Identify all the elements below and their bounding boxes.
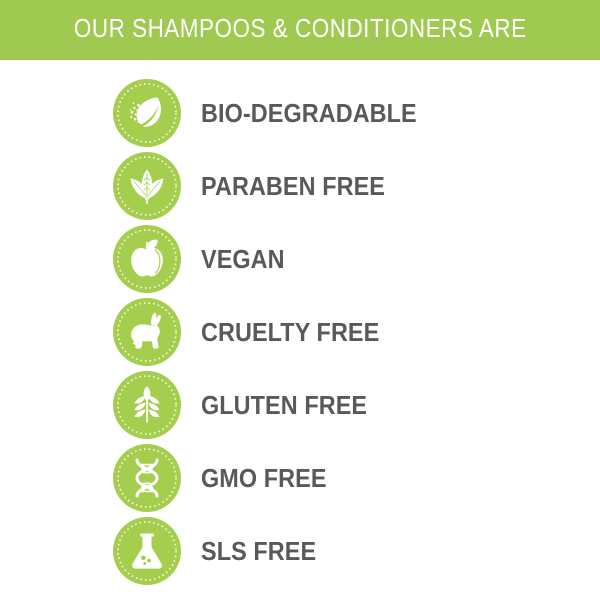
badge-cruelty-free: [113, 298, 181, 366]
claim-row-bio-degradable: BIO-DEGRADABLE: [113, 79, 573, 147]
badge-bio-degradable: [113, 79, 181, 147]
claim-row-vegan: VEGAN: [113, 225, 573, 293]
claim-label: BIO-DEGRADABLE: [201, 100, 417, 126]
claim-row-cruelty-free: CRUELTY FREE: [113, 298, 573, 366]
claim-label: CRUELTY FREE: [201, 319, 379, 345]
badge-paraben-free: [113, 152, 181, 220]
header-banner: OUR SHAMPOOS & CONDITIONERS ARE: [0, 0, 600, 60]
badge-sls-free: [113, 517, 181, 585]
infographic-root: OUR SHAMPOOS & CONDITIONERS ARE: [0, 0, 600, 600]
page-title: OUR SHAMPOOS & CONDITIONERS ARE: [74, 17, 527, 43]
claim-label: GLUTEN FREE: [201, 392, 367, 418]
claims-list: BIO-DEGRADABLE: [0, 60, 600, 600]
badge-vegan: [113, 225, 181, 293]
claim-row-sls-free: SLS FREE: [113, 517, 573, 585]
claim-row-gmo-free: GMO FREE: [113, 444, 573, 512]
claim-label: VEGAN: [201, 246, 285, 272]
claim-label: SLS FREE: [201, 538, 316, 564]
claim-label: PARABEN FREE: [201, 173, 385, 199]
badge-gluten-free: [113, 371, 181, 439]
claim-row-paraben-free: PARABEN FREE: [113, 152, 573, 220]
claim-row-gluten-free: GLUTEN FREE: [113, 371, 573, 439]
claim-label: GMO FREE: [201, 465, 327, 491]
badge-gmo-free: [113, 444, 181, 512]
